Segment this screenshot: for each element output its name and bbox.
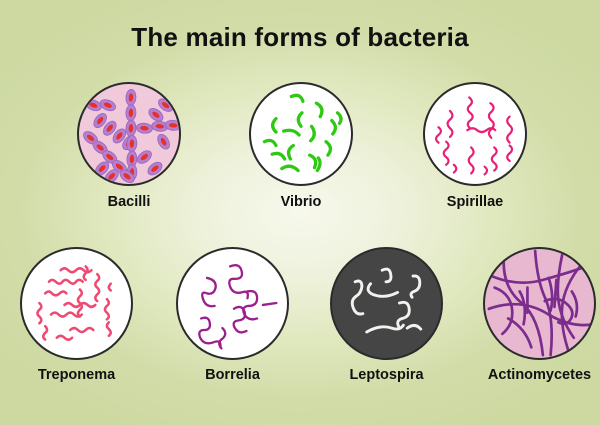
vibrio-illustration bbox=[251, 84, 351, 184]
actinomycetes-illustration bbox=[485, 249, 594, 358]
dish-label-actinomycetes: Actinomycetes bbox=[453, 367, 600, 383]
dish-label-vibrio: Vibrio bbox=[219, 194, 383, 210]
dish-label-bacilli: Bacilli bbox=[47, 194, 211, 210]
borrelia-petri-circle bbox=[176, 247, 289, 360]
dish-borrelia[interactable]: Borrelia bbox=[176, 247, 289, 360]
dish-bacilli[interactable]: Bacilli bbox=[77, 82, 181, 186]
dish-label-leptospira: Leptospira bbox=[300, 367, 473, 383]
dish-label-spirillae: Spirillae bbox=[393, 194, 557, 210]
borrelia-illustration bbox=[178, 249, 287, 358]
treponema-petri-circle bbox=[20, 247, 133, 360]
dish-label-treponema: Treponema bbox=[0, 367, 163, 383]
bacilli-petri-circle bbox=[77, 82, 181, 186]
leptospira-illustration bbox=[332, 249, 441, 358]
poster-canvas: The main forms of bacteria bbox=[0, 0, 600, 425]
bacilli-illustration bbox=[79, 84, 179, 184]
dish-label-borrelia: Borrelia bbox=[146, 367, 319, 383]
spirillae-illustration bbox=[425, 84, 525, 184]
dish-vibrio[interactable]: Vibrio bbox=[249, 82, 353, 186]
treponema-illustration bbox=[22, 249, 131, 358]
dish-leptospira[interactable]: Leptospira bbox=[330, 247, 443, 360]
spirillae-petri-circle bbox=[423, 82, 527, 186]
page-title: The main forms of bacteria bbox=[0, 22, 600, 53]
vibrio-petri-circle bbox=[249, 82, 353, 186]
actinomycetes-petri-circle bbox=[483, 247, 596, 360]
leptospira-petri-circle bbox=[330, 247, 443, 360]
dish-treponema[interactable]: Treponema bbox=[20, 247, 133, 360]
dish-actinomycetes[interactable]: Actinomycetes bbox=[483, 247, 596, 360]
dish-spirillae[interactable]: Spirillae bbox=[423, 82, 527, 186]
